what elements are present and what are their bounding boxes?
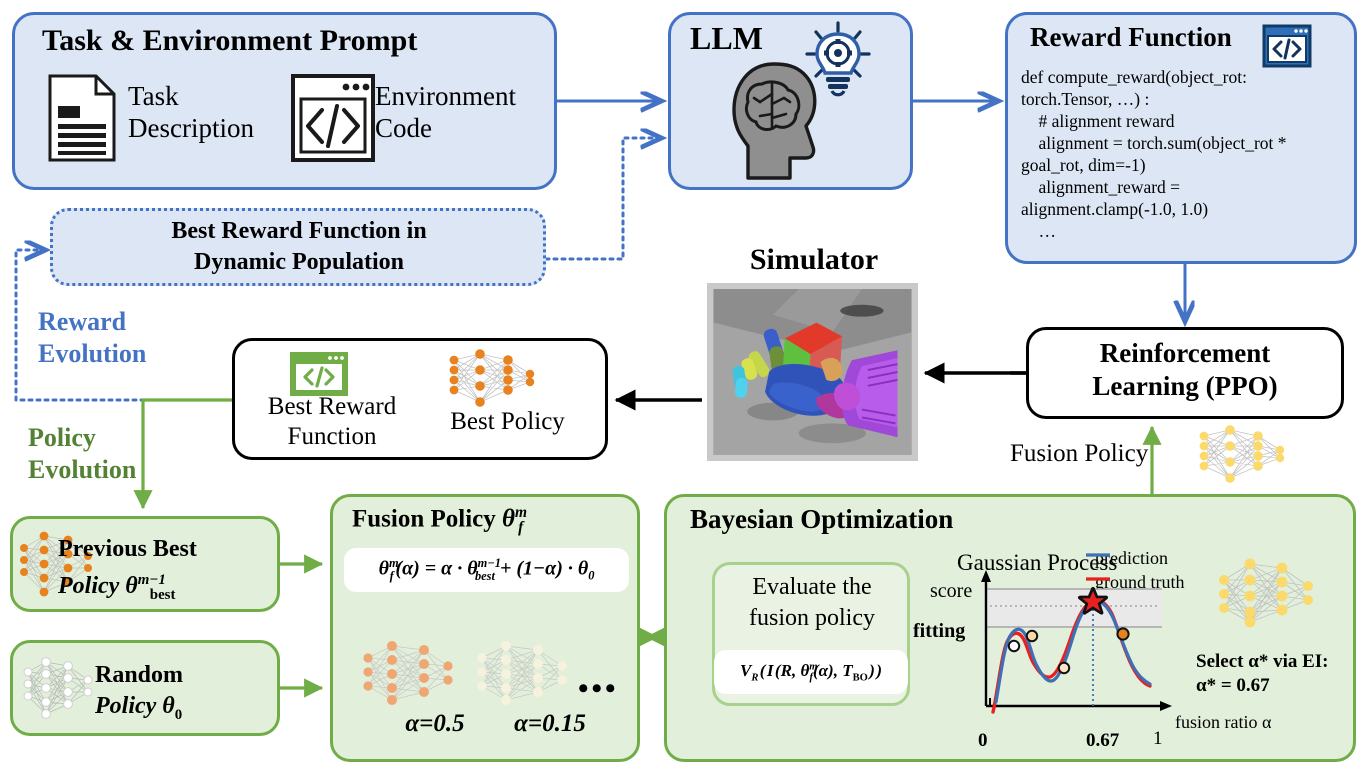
dynamic-population-title: Best Reward Function in Dynamic Populati… (56, 216, 542, 278)
neural-network-icon (358, 640, 458, 706)
robot-hand-cube-simulation (713, 289, 912, 455)
reward-evolution-label: Reward Evolution (38, 306, 198, 370)
document-icon (46, 72, 118, 164)
random-symbol: Policy θ (95, 693, 175, 719)
code-window-icon (288, 350, 350, 398)
observed-point (1009, 641, 1019, 651)
neural-network-icon (442, 348, 538, 410)
neural-network-icon (20, 654, 94, 722)
diagram-canvas: Task & Environment Prompt Task Descripti… (0, 0, 1370, 768)
select-alpha-label: Select α* via EI: α* = 0.67 (1196, 650, 1361, 698)
wire-population-to-llm (546, 138, 660, 259)
best-policy-label: Best Policy (425, 408, 590, 436)
prev-best-sub: best (150, 587, 176, 603)
fusion-title-sub: f (518, 519, 523, 536)
observed-point (1027, 631, 1037, 641)
y-axis-arrow (981, 570, 991, 582)
page-title: Task & Environment Prompt (42, 24, 417, 58)
alpha-value-2: α=0.15 (490, 710, 610, 738)
task-description-label: Task Description (128, 80, 254, 144)
best-reward-function-label: Best Reward Function (252, 392, 412, 452)
random-policy-label: Random Policy θ0 (95, 660, 285, 731)
ellipsis-icon: ••• (578, 672, 619, 706)
xtick-0: 0 (978, 730, 988, 752)
fusion-equation: θmf (α) = α · θm−1best + (1−α) · θ0 (344, 548, 629, 592)
policy-evolution-label: Policy Evolution (28, 422, 198, 486)
observed-point (1117, 628, 1128, 639)
select-line-1: Select α* via EI: (1196, 651, 1329, 672)
fusion-title-symbol: θ (502, 505, 515, 532)
neural-network-icon (1212, 556, 1318, 628)
simulator-title: Simulator (706, 243, 922, 277)
reward-function-code: def compute_reward(object_rot: torch.Ten… (1021, 66, 1343, 242)
brain-head-icon (726, 58, 844, 186)
gaussian-process-chart (960, 540, 1190, 730)
observed-point (1059, 663, 1069, 673)
simulator-viewport (707, 283, 918, 461)
random-line-1: Random (95, 662, 183, 688)
alpha-value-1: α=0.5 (380, 710, 490, 738)
neural-network-icon (1192, 424, 1288, 486)
bayesian-optimization-title: Bayesian Optimization (690, 504, 953, 535)
x-axis-arrow (1160, 701, 1172, 711)
fusion-title-text: Fusion Policy (352, 505, 496, 532)
previous-best-policy-label: Previous Best Policy θm−1best (58, 534, 278, 611)
fusion-policy-title: Fusion Policy θmf (352, 504, 523, 537)
population-line-2: Dynamic Population (194, 249, 404, 275)
rl-line-2: Learning (PPO) (1092, 371, 1277, 401)
evaluate-fusion-policy-label: Evaluate the fusion policy (718, 572, 906, 634)
xtick-1: 1 (1153, 728, 1163, 750)
code-window-icon (1262, 24, 1312, 68)
population-line-1: Best Reward Function in (171, 218, 426, 244)
reward-function-title: Reward Function (1030, 22, 1232, 53)
fusion-policy-edge-label: Fusion Policy (1010, 440, 1148, 468)
prev-best-symbol: Policy θ (58, 573, 138, 599)
evaluate-equation: VR ( I (R, θmf(α), TBO ) ) (714, 650, 908, 694)
neural-network-icon (472, 640, 572, 706)
llm-title: LLM (690, 20, 763, 57)
evaluate-line-2: fusion policy (749, 605, 875, 631)
evaluate-line-1: Evaluate the (752, 574, 871, 600)
code-window-icon (290, 72, 376, 164)
rl-line-1: Reinforcement (1100, 338, 1270, 368)
xtick-067: 0.67 (1086, 730, 1119, 752)
prev-best-sup: m−1 (138, 572, 166, 588)
select-line-2: α* = 0.67 (1196, 675, 1270, 696)
environment-code-label: Environment Code (375, 80, 516, 144)
prev-best-line-1: Previous Best (58, 536, 197, 562)
confidence-band (986, 589, 1162, 627)
fitting-label: fitting (913, 620, 965, 643)
random-sub: 0 (175, 707, 182, 723)
rl-title: Reinforcement Learning (PPO) (1032, 337, 1338, 403)
